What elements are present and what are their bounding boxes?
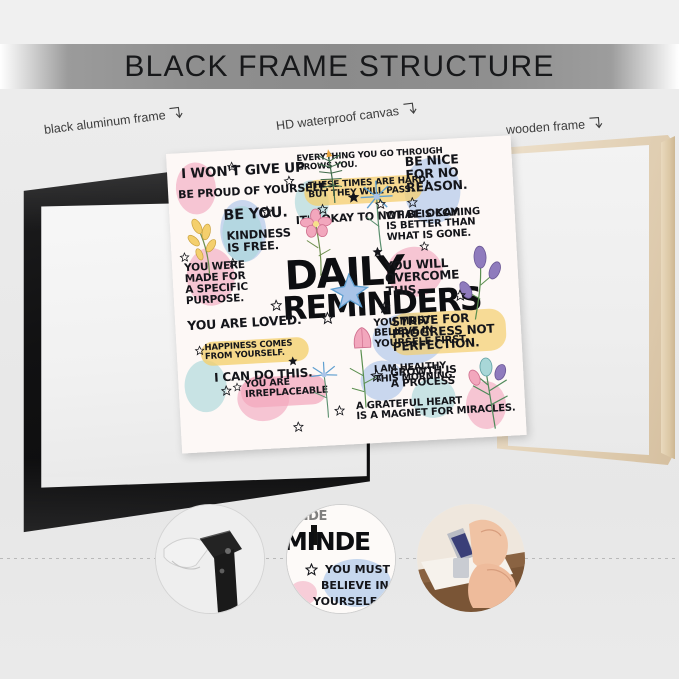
star-sparkle-icon <box>261 204 274 223</box>
daily-reminders-poster: DAILY REMINDERS I WON'T GIVE UP BE PROUD… <box>166 135 527 453</box>
top-spacer <box>0 0 679 44</box>
canvas-zoom-title: MINDE <box>286 527 370 556</box>
hd-waterproof-canvas-graphic: DAILY REMINDERS I WON'T GIVE UP BE PROUD… <box>166 135 527 453</box>
title-banner: BLACK FRAME STRUCTURE <box>0 44 679 89</box>
wooden-frame-side-edge <box>661 136 675 459</box>
star-sparkle-icon <box>321 311 335 330</box>
star-sparkle-icon <box>270 298 283 317</box>
star-sparkle-icon <box>232 378 242 396</box>
canvas-zoom-text-partial: MINDE <box>286 509 327 524</box>
poster-quote-6: YOU ARE LOVED. <box>187 313 302 332</box>
star-filled-icon <box>371 244 384 263</box>
poster-quote-20: I AM HEALTHY THIS MORNING. <box>374 361 456 385</box>
star-sparkle-icon <box>293 419 305 438</box>
star-sparkle-icon <box>228 254 239 273</box>
flower-blue-star-icon <box>329 269 371 314</box>
star-sparkle-icon <box>419 238 430 257</box>
poster-quote-3: BE YOU. <box>223 206 288 225</box>
star-sparkle-icon <box>370 369 384 388</box>
flower-purple-buds-icon <box>457 244 505 327</box>
star-sparkle-icon <box>194 342 205 361</box>
hand-stapler-icon <box>417 504 525 612</box>
detail-circle-canvas-print: MINDE MINDE YOU MUST BELIEVE IN YOURSELF… <box>286 504 396 614</box>
flower-bouquet-teal-icon <box>465 349 522 437</box>
frame-exploded-view: DAILY REMINDERS I WON'T GIVE UP BE PROUD… <box>0 89 679 489</box>
star-sparkle-icon <box>305 563 318 581</box>
star-sparkle-icon <box>375 196 387 215</box>
poster-quote-4: KINDNESS IS FREE. <box>226 227 291 254</box>
detail-circle-frame-corner <box>155 504 265 614</box>
canvas-zoom-quote-3: YOURSELF FI <box>313 595 393 608</box>
star-sparkle-icon <box>317 201 329 220</box>
poster-quote-15: YOU WILL OVERCOME THIS. <box>384 256 460 297</box>
canvas-zoom-quote-1: YOU MUST <box>325 563 390 576</box>
canvas-zoom-quote-2: BELIEVE IN <box>321 579 389 592</box>
star-filled-icon <box>346 190 361 210</box>
poster-quote-13: BE NICE FOR NO REASON. <box>404 152 467 194</box>
star-sparkle-icon <box>454 288 467 307</box>
flower-yellow-icon <box>183 213 233 282</box>
star-sparkle-icon <box>407 194 419 213</box>
poster-quote-19b: YOU MUST BELIEVE IN YOURSELF FIRST. <box>373 314 468 350</box>
detail-circle-stapling <box>417 504 525 612</box>
star-sparkle-icon <box>220 383 232 402</box>
wooden-frame-opening <box>508 145 649 455</box>
star-sparkle-icon <box>334 403 346 422</box>
page-title: BLACK FRAME STRUCTURE <box>124 50 554 84</box>
star-sparkle-icon <box>179 249 190 268</box>
hand-holding-frame-icon <box>156 505 264 613</box>
star-sparkle-icon <box>226 158 237 177</box>
star-sparkle-icon <box>378 300 391 319</box>
star-filled-icon <box>287 353 299 372</box>
star-sparkle-icon <box>283 173 295 192</box>
